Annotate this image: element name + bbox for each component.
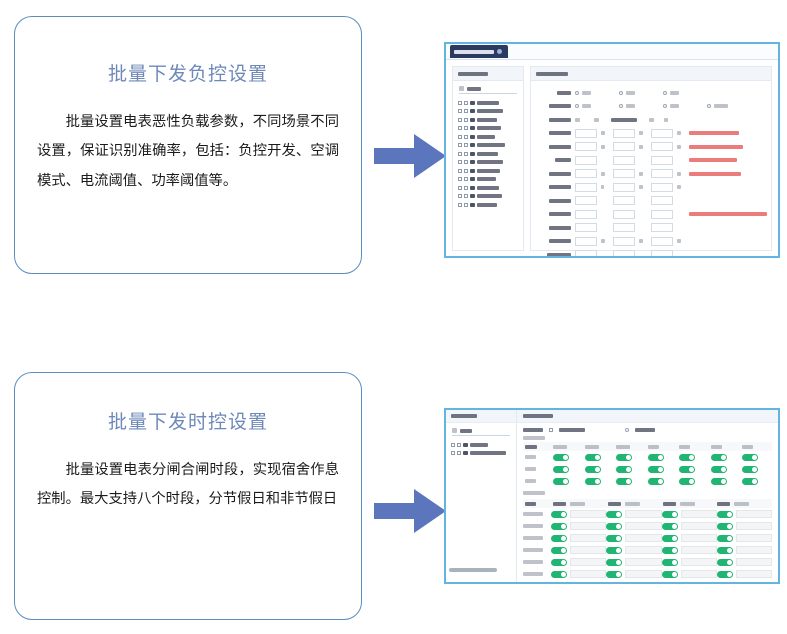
radio-button[interactable] — [707, 104, 711, 108]
switch-settings-table: 状态 时段一 时段二 时段三 时段四 时段五 时段六 时段七 合闸 — [517, 442, 778, 487]
field-label: 恒功率二 — [549, 239, 571, 243]
toggle-switch[interactable] — [662, 559, 678, 566]
search-icon — [452, 428, 457, 433]
checkbox[interactable] — [458, 126, 462, 130]
column-header: 时段 — [525, 502, 536, 506]
toggle-switch[interactable] — [585, 466, 601, 473]
toggle-switch[interactable] — [648, 478, 664, 485]
form-row-intermittent-power-3: 间歇功率三 — [539, 249, 767, 258]
search-icon — [459, 86, 464, 91]
threshold-input[interactable] — [613, 169, 635, 178]
radio-label: 默认 — [670, 91, 679, 95]
checkbox[interactable] — [458, 194, 462, 198]
field-value — [575, 118, 580, 122]
checkbox[interactable] — [458, 169, 462, 173]
time-input[interactable] — [736, 558, 772, 566]
radio-button[interactable] — [663, 91, 667, 95]
threshold-input[interactable] — [575, 142, 597, 151]
row-label: 告警 — [525, 479, 536, 483]
toggle-switch[interactable] — [553, 454, 569, 461]
toggle-switch[interactable] — [606, 571, 622, 578]
field-label: 波动阈值 — [549, 199, 571, 203]
expand-icon[interactable] — [457, 443, 461, 447]
threshold-input[interactable] — [651, 183, 673, 192]
radio-group[interactable]: 开启 — [575, 91, 615, 95]
expand-icon[interactable] — [464, 203, 468, 207]
tree-item[interactable]: 十二号楼 — [458, 193, 518, 200]
toggle-switch[interactable] — [742, 454, 758, 461]
unit-label: P — [677, 145, 681, 149]
section-title-text: 时控开关设置 — [523, 436, 545, 440]
radio-button[interactable] — [575, 91, 579, 95]
time-input[interactable] — [736, 510, 772, 518]
tree-item-label: 六号楼 — [477, 143, 505, 147]
toggle-switch[interactable] — [551, 523, 567, 530]
panel-title: 组织机构树 — [458, 72, 488, 76]
tree-item-label: 三号楼 — [477, 118, 497, 122]
toggle-switch[interactable] — [717, 523, 733, 530]
threshold-input[interactable] — [613, 183, 635, 192]
tree-item-label: 五号楼 — [477, 135, 495, 139]
time-input[interactable] — [570, 570, 606, 578]
toggle-switch[interactable] — [606, 547, 622, 554]
tab-bar: 批量下发负控设置 — [446, 44, 778, 60]
checkbox[interactable] — [458, 203, 462, 207]
table-header-row: 时段 开关一时间一 开关二时间二 开关三时间三 开关四时间四 — [523, 499, 772, 508]
tree-item[interactable]: 十三号楼 — [458, 201, 518, 208]
tree-item-label: 一号楼-一单元-一层 — [470, 451, 506, 455]
form-row-ac-mode: 空调模式 模式一 模式二 模式三 不检测 — [539, 101, 767, 112]
radio-label: 模式一 — [582, 104, 591, 108]
form-row-high-power-1: 大功率一 与功率阈值配合使用，详细说明五 — [539, 209, 767, 220]
toggle-switch[interactable] — [606, 511, 622, 518]
threshold-input[interactable] — [613, 210, 635, 219]
row-label: 合闸 — [525, 455, 536, 459]
threshold-input[interactable] — [575, 223, 597, 232]
toggle-switch[interactable] — [551, 511, 567, 518]
tree-search-box[interactable]: 搜索 — [459, 86, 517, 94]
radio-group[interactable]: 模式三 — [663, 104, 703, 108]
time-input[interactable] — [570, 510, 606, 518]
toggle-switch[interactable] — [648, 454, 664, 461]
unit-label — [601, 185, 604, 189]
tree-item[interactable]: 十号楼 — [458, 176, 518, 183]
tree-item[interactable]: 六号楼 — [458, 142, 518, 149]
toggle-switch[interactable] — [662, 523, 678, 530]
column-header: 时段四 — [648, 445, 659, 449]
checkbox[interactable] — [458, 152, 462, 156]
tree-search-box[interactable]: 搜索 — [452, 428, 510, 436]
folder-icon — [470, 194, 475, 198]
tree-item-label: 十号楼 — [477, 177, 496, 181]
threshold-input[interactable] — [651, 196, 673, 205]
tab-label: 批量下发负控设置 — [454, 50, 494, 54]
folder-icon — [470, 118, 475, 122]
time-input[interactable] — [681, 534, 717, 542]
panel-time-settings: 时控下发设置 节假日： 启用节假日 不启用 时控开关设置 状态 时段一 时段二 … — [517, 410, 778, 582]
row-label: 分闸 — [525, 467, 536, 471]
radio-label: 模式三 — [670, 104, 679, 108]
unit-label: A — [639, 131, 643, 135]
threshold-input[interactable] — [613, 142, 635, 151]
form-row-peak-power: 峰值功率 — [539, 222, 767, 233]
checkbox[interactable] — [458, 118, 462, 122]
tree-list: 一号楼 一号楼-一单元-一层 — [446, 439, 516, 460]
row-label: 第四时段 — [523, 548, 543, 552]
expand-icon[interactable] — [464, 194, 468, 198]
toggle-switch[interactable] — [606, 535, 622, 542]
expand-icon[interactable] — [464, 143, 468, 147]
form-row-constant-power-2: 恒功率二 A A A — [539, 236, 767, 247]
time-input[interactable] — [736, 546, 772, 554]
hint-text: 电流阈值：详细说明三 — [689, 158, 737, 162]
folder-icon — [470, 109, 475, 113]
time-input[interactable] — [681, 546, 717, 554]
toggle-switch[interactable] — [717, 559, 733, 566]
unit-label: P — [677, 172, 681, 176]
tab-load-control-settings[interactable]: 批量下发负控设置 — [450, 45, 508, 58]
time-input[interactable] — [681, 510, 717, 518]
radio-disable-holiday[interactable] — [625, 428, 629, 432]
toggle-switch[interactable] — [717, 547, 733, 554]
table-row: 第四时段 — [523, 544, 772, 556]
panel-header-org-tree: 组织机构树 — [453, 67, 523, 81]
folder-icon — [463, 443, 468, 447]
toggle-switch[interactable] — [551, 571, 567, 578]
table-row: 第五时段 — [523, 556, 772, 568]
time-input[interactable] — [570, 546, 606, 554]
folder-icon — [470, 143, 475, 147]
folder-icon — [463, 451, 468, 455]
toggle-switch[interactable] — [551, 535, 567, 542]
time-input[interactable] — [681, 558, 717, 566]
time-input[interactable] — [625, 522, 661, 530]
threshold-input[interactable] — [613, 156, 635, 165]
card-title-load-control: 批量下发负控设置 — [15, 59, 361, 86]
radio-label: 不启用 — [635, 428, 655, 432]
form-row-current-threshold: 电流阈值 V A P 阈值：详细说明一 — [539, 128, 767, 139]
expand-icon[interactable] — [464, 152, 468, 156]
arrow-shaft — [374, 148, 418, 164]
toggle-switch[interactable] — [679, 454, 695, 461]
folder-icon — [470, 135, 475, 139]
toggle-switch[interactable] — [717, 511, 733, 518]
expand-icon[interactable] — [464, 101, 468, 105]
toggle-switch[interactable] — [717, 535, 733, 542]
tree-item-label: 十一号楼 — [477, 186, 499, 190]
column-header: 时段二 — [585, 445, 599, 449]
toggle-switch[interactable] — [606, 559, 622, 566]
threshold-input[interactable] — [575, 237, 597, 246]
unit-label: A — [601, 239, 605, 243]
hint-text: 时间阈值：详细说明四 — [689, 172, 741, 176]
toggle-switch[interactable] — [717, 571, 733, 578]
folder-icon — [470, 126, 475, 130]
table-row: 第一时段 — [523, 508, 772, 520]
checkbox[interactable] — [451, 451, 455, 455]
column-header: 时间二 — [625, 502, 640, 506]
expand-icon[interactable] — [457, 451, 461, 455]
time-input[interactable] — [570, 534, 606, 542]
panel-header-org-tree: 组织机构树 — [446, 410, 516, 423]
card-body-time-control: 批量设置电表分闸合闸时段，实现宿舍作息控制。最大支持八个时段，分节假日和非节假日 — [37, 456, 339, 515]
toggle-switch[interactable] — [585, 454, 601, 461]
expand-icon[interactable] — [464, 169, 468, 173]
checkbox[interactable] — [458, 135, 462, 139]
toggle-switch[interactable] — [616, 466, 632, 473]
arrow-head — [414, 489, 446, 533]
column-header: 时间一 — [570, 502, 585, 506]
right-arrow-icon — [374, 134, 446, 178]
threshold-input[interactable] — [651, 156, 673, 165]
expand-icon[interactable] — [464, 186, 468, 190]
arrow-shaft — [374, 503, 418, 519]
toggle-switch[interactable] — [551, 547, 567, 554]
hint-text: 功率阈值：详细说明二 — [689, 145, 743, 149]
arrow-head — [414, 134, 446, 178]
time-input[interactable] — [625, 510, 661, 518]
unit-label: V — [601, 172, 605, 176]
toggle-switch[interactable] — [585, 478, 601, 485]
tree-item[interactable]: 三号楼 — [458, 116, 518, 123]
feature-card-time-control: 批量下发时控设置 批量设置电表分闸合闸时段，实现宿舍作息控制。最大支持八个时段，… — [14, 372, 362, 620]
checkbox[interactable] — [458, 186, 462, 190]
expand-icon[interactable] — [464, 135, 468, 139]
threshold-input[interactable] — [575, 196, 597, 205]
folder-icon — [470, 203, 475, 207]
row-label: 第三时段 — [523, 536, 543, 540]
radio-button[interactable] — [619, 91, 623, 95]
checkbox[interactable] — [458, 177, 462, 181]
checkbox[interactable] — [458, 160, 462, 164]
toggle-switch[interactable] — [606, 523, 622, 530]
time-input[interactable] — [681, 522, 717, 530]
threshold-input[interactable] — [651, 129, 673, 138]
threshold-input[interactable] — [613, 237, 635, 246]
expand-icon[interactable] — [464, 160, 468, 164]
panel-title: 时控下发设置 — [523, 414, 553, 418]
form-row-load-type: 负载类型 恶性负载类型 检测 — [539, 114, 767, 125]
threshold-input[interactable] — [575, 156, 597, 165]
checkbox-enable-holiday[interactable] — [549, 428, 553, 432]
time-input[interactable] — [736, 570, 772, 578]
table-row: 第六时段 — [523, 568, 772, 580]
tree-item[interactable]: 七号楼 — [458, 150, 518, 157]
toggle-switch[interactable] — [662, 571, 678, 578]
threshold-input[interactable] — [613, 196, 635, 205]
table-row: 分闸 — [523, 463, 772, 475]
field-label: 功率阈值 — [549, 172, 571, 176]
tree-item-label: 七号楼 — [477, 152, 498, 156]
threshold-input[interactable] — [651, 210, 673, 219]
checkbox[interactable] — [458, 109, 462, 113]
toggle-switch[interactable] — [553, 466, 569, 473]
table-row: 告警 — [523, 475, 772, 487]
checkbox[interactable] — [458, 101, 462, 105]
screenshot-load-control-app: 批量下发负控设置 组织机构树 搜索 一号楼 二号楼 三号楼 四号楼 五号楼 六号… — [444, 42, 780, 258]
radio-group[interactable]: 默认 — [663, 91, 703, 95]
threshold-input[interactable] — [575, 129, 597, 138]
form-row-switch: 开关 开启 关闭 默认 — [539, 87, 767, 98]
form-row-power-threshold: 功率阈值 V A P 时间阈值：详细说明四 — [539, 168, 767, 179]
tree-item[interactable]: 八号楼 — [458, 159, 518, 166]
tree-item-label: 一号楼 — [477, 101, 499, 105]
threshold-input[interactable] — [651, 142, 673, 151]
threshold-input[interactable] — [613, 250, 635, 258]
expand-icon[interactable] — [464, 126, 468, 130]
column-header: 时段三 — [616, 445, 630, 449]
toggle-switch[interactable] — [662, 547, 678, 554]
tree-item-label: 八号楼 — [477, 160, 503, 164]
panel-load-parameters: 负控参数设置 开关 开启 关闭 默认 空调模式 模式一 模式二 模式三 不检测 — [530, 66, 772, 251]
card-title-time-control: 批量下发时控设置 — [15, 407, 361, 434]
folder-icon — [470, 152, 475, 156]
field-label: 恶性负载类型 — [611, 118, 637, 122]
toggle-switch[interactable] — [742, 466, 758, 473]
time-input[interactable] — [736, 522, 772, 530]
tree-item[interactable]: 一号楼 — [458, 99, 518, 106]
field-label: 时间阈值 — [555, 158, 571, 162]
unit-label: P — [677, 131, 681, 135]
toggle-switch[interactable] — [679, 478, 695, 485]
field-label: 负载类型 — [549, 118, 571, 122]
radio-group[interactable]: 模式二 — [619, 104, 659, 108]
footer-notes: 说明 — [517, 580, 778, 584]
close-icon[interactable] — [497, 49, 502, 54]
expand-icon[interactable] — [464, 177, 468, 181]
checkbox-label: 启用节假日 — [559, 428, 585, 432]
threshold-input[interactable] — [575, 210, 597, 219]
radio-group[interactable]: 关闭 — [619, 91, 659, 95]
tree-item-label: 九号楼 — [477, 169, 500, 173]
time-input[interactable] — [570, 558, 606, 566]
tree-item-label: 四号楼 — [477, 126, 501, 130]
panel-organization-tree: 组织机构树 搜索 一号楼 一号楼-一单元-一层 — [446, 410, 517, 582]
threshold-input[interactable] — [613, 129, 635, 138]
threshold-input[interactable] — [651, 223, 673, 232]
column-header: 时段五 — [679, 445, 690, 449]
screenshot-time-control-app: 组织机构树 搜索 一号楼 一号楼-一单元-一层 时控下发设置 节假日： 启用节假… — [444, 408, 780, 584]
holiday-filter-label: 节假日： — [523, 428, 543, 432]
form-row-harmonic-threshold: 谐波阈值 A P — [539, 182, 767, 193]
field-value — [664, 118, 668, 122]
field-label: 空调模式 — [549, 104, 571, 108]
tree-item[interactable]: 五号楼 — [458, 133, 518, 140]
time-input[interactable] — [625, 570, 661, 578]
time-input[interactable] — [625, 546, 661, 554]
tree-item[interactable]: 四号楼 — [458, 125, 518, 132]
tree-item[interactable]: 二号楼 — [458, 108, 518, 115]
section-title-text: 时段明细设置 — [523, 491, 545, 495]
toggle-switch[interactable] — [553, 478, 569, 485]
checkbox[interactable] — [451, 443, 455, 447]
expand-icon[interactable] — [464, 118, 468, 122]
time-input[interactable] — [570, 522, 606, 530]
time-control-layout: 组织机构树 搜索 一号楼 一号楼-一单元-一层 时控下发设置 节假日： 启用节假… — [446, 410, 778, 582]
field-label: 峰值功率 — [549, 226, 571, 230]
toggle-switch[interactable] — [711, 466, 727, 473]
row-label: 第五时段 — [523, 560, 543, 564]
radio-group[interactable]: 模式一 — [575, 104, 615, 108]
toggle-switch[interactable] — [662, 535, 678, 542]
toggle-switch[interactable] — [551, 559, 567, 566]
checkbox[interactable] — [458, 143, 462, 147]
radio-group[interactable]: 不检测 — [707, 104, 747, 108]
search-input[interactable]: 搜索 — [467, 87, 481, 91]
column-header: 时间三 — [680, 502, 695, 506]
toggle-switch[interactable] — [648, 466, 664, 473]
threshold-input[interactable] — [651, 169, 673, 178]
radio-button[interactable] — [663, 104, 667, 108]
sidebar-scrollbar[interactable] — [449, 568, 497, 572]
folder-icon — [470, 169, 475, 173]
tree-item[interactable]: 一号楼-一单元-一层 — [451, 450, 511, 457]
time-input[interactable] — [681, 570, 717, 578]
time-input[interactable] — [625, 534, 661, 542]
tree-item[interactable]: 十一号楼 — [458, 184, 518, 191]
radio-label: 不检测 — [714, 104, 728, 108]
threshold-input[interactable] — [613, 223, 635, 232]
threshold-input[interactable] — [575, 169, 597, 178]
unit-label: P — [677, 185, 681, 189]
toggle-switch[interactable] — [711, 454, 727, 461]
table-row: 合闸 — [523, 451, 772, 463]
panel-header-time-settings: 时控下发设置 — [517, 410, 778, 423]
tree-item[interactable]: 九号楼 — [458, 167, 518, 174]
time-input[interactable] — [625, 558, 661, 566]
toggle-switch[interactable] — [679, 466, 695, 473]
search-input[interactable]: 搜索 — [460, 429, 472, 433]
field-value — [594, 118, 599, 122]
toggle-switch[interactable] — [662, 511, 678, 518]
column-header: 时段七 — [742, 445, 753, 449]
field-label: 谐波阈值 — [549, 185, 571, 189]
toggle-switch[interactable] — [616, 478, 632, 485]
unit-label: A — [639, 172, 643, 176]
panel-title: 负控参数设置 — [536, 72, 568, 76]
radio-button[interactable] — [575, 104, 579, 108]
folder-icon — [470, 160, 475, 164]
unit-label: A — [677, 239, 681, 243]
tree-item-label: 十三号楼 — [477, 203, 497, 207]
table-header-row: 状态 时段一 时段二 时段三 时段四 时段五 时段六 时段七 — [523, 442, 772, 451]
toggle-switch[interactable] — [742, 478, 758, 485]
column-header: 开关四 — [717, 502, 730, 506]
time-input[interactable] — [736, 534, 772, 542]
threshold-input[interactable] — [651, 237, 673, 246]
hint-text: 与功率阈值配合使用，详细说明五 — [689, 212, 767, 216]
card-body-load-control: 批量设置电表恶性负载参数，不同场景不同设置，保证识别准确率，包括：负控开发、空调… — [37, 108, 339, 196]
field-value: 检测 — [649, 118, 654, 122]
tree-item[interactable]: 一号楼 — [451, 441, 511, 448]
unit-label: V — [601, 131, 605, 135]
field-label: 大功率一 — [549, 212, 571, 216]
table-row: 第三时段 — [523, 532, 772, 544]
tree-item-label: 十二号楼 — [477, 194, 502, 198]
form-row-fluctuation-threshold: 波动阈值 — [539, 195, 767, 206]
unit-label: A — [639, 239, 643, 243]
toggle-switch[interactable] — [711, 478, 727, 485]
expand-icon[interactable] — [464, 109, 468, 113]
toggle-switch[interactable] — [616, 454, 632, 461]
threshold-input[interactable] — [575, 183, 597, 192]
threshold-input[interactable] — [575, 250, 597, 258]
field-label: 开关 — [557, 91, 571, 95]
threshold-input[interactable] — [651, 250, 673, 258]
hint-text: 阈值：详细说明一 — [689, 131, 739, 135]
radio-button[interactable] — [619, 104, 623, 108]
period-detail-table: 时段 开关一时间一 开关二时间二 开关三时间三 开关四时间四 第一时段 第二时段 — [517, 497, 778, 580]
